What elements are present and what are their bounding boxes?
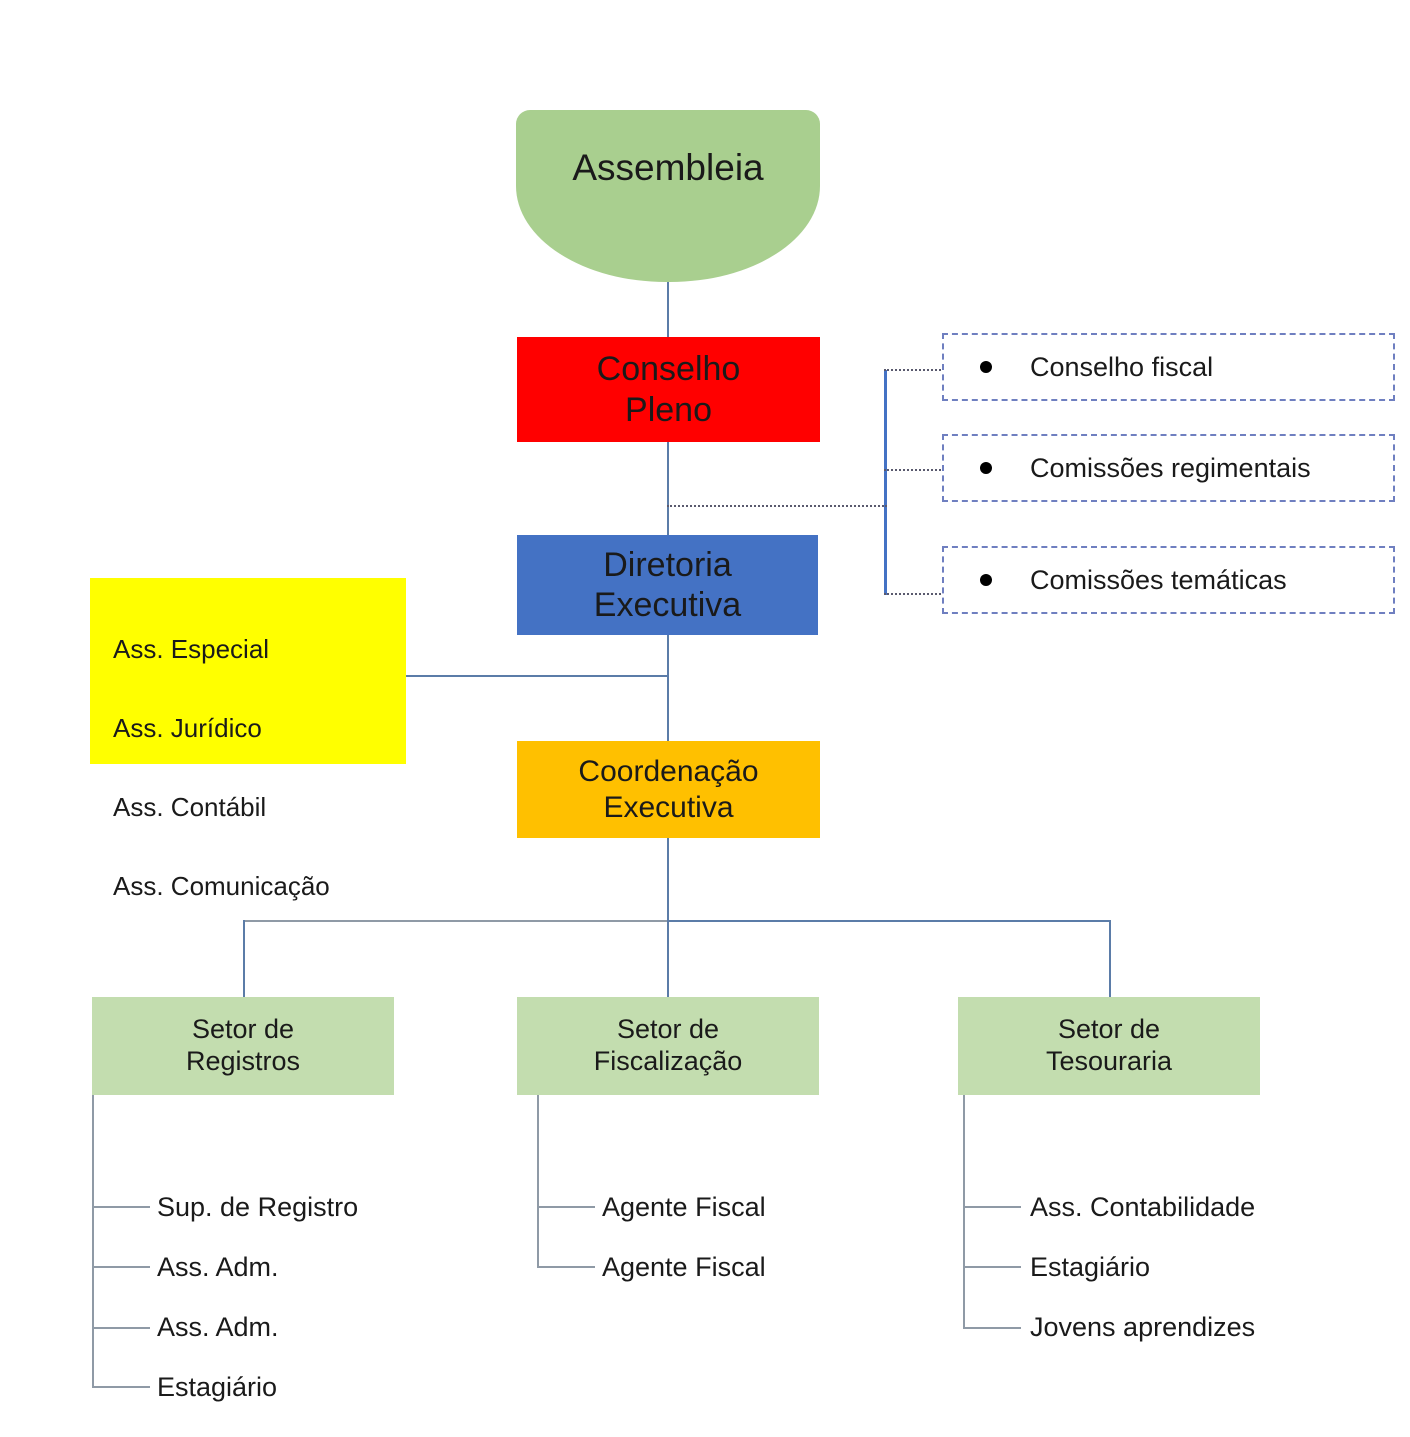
staff-fiscalizacao-0: Agente Fiscal [602, 1194, 766, 1221]
committee-label: Conselho fiscal [1030, 352, 1213, 383]
staff-tesouraria-0: Ass. Contabilidade [1030, 1194, 1255, 1221]
assessoria-item-0: Ass. Especial [113, 630, 406, 670]
connector-spine-to-conselho-fiscal [884, 369, 944, 371]
org-chart-canvas: Assembleia Conselho Pleno Diretoria Exec… [0, 0, 1410, 1437]
assessoria-item-3: Ass. Comunicação [113, 867, 406, 907]
assessoria-item-1: Ass. Jurídico [113, 709, 406, 749]
connector-distributor-to-setor-fiscalizacao [667, 920, 669, 998]
leaf-stub-registros-4 [92, 1386, 150, 1388]
bullet-dot-icon [980, 462, 992, 474]
bullet-dot-icon [980, 574, 992, 586]
leaf-stub-fiscalizacao-1 [537, 1206, 595, 1208]
staff-registros-1: Ass. Adm. [157, 1254, 279, 1281]
node-conselho-pleno[interactable]: Conselho Pleno [517, 337, 820, 442]
leaf-stub-tesouraria-1 [963, 1206, 1021, 1208]
leaf-spine-tesouraria [963, 1095, 965, 1328]
leaf-stub-tesouraria-2 [963, 1266, 1021, 1268]
node-coordenacao-executiva[interactable]: Coordenação Executiva [517, 741, 820, 838]
node-assembleia[interactable]: Assembleia [516, 110, 820, 282]
staff-tesouraria-2: Jovens aprendizes [1030, 1314, 1255, 1341]
leaf-stub-registros-2 [92, 1266, 150, 1268]
node-setor-tesouraria[interactable]: Setor de Tesouraria [958, 997, 1260, 1095]
committee-box-comissoes-regimentais[interactable]: Comissões regimentais [942, 434, 1395, 502]
connector-conselho-to-diretoria [667, 442, 669, 536]
staff-registros-0: Sup. de Registro [157, 1194, 358, 1221]
staff-registros-3: Estagiário [157, 1374, 277, 1401]
connector-spine-to-comissoes-regimentais [884, 469, 944, 471]
leaf-stub-fiscalizacao-2 [537, 1266, 595, 1268]
distributor-bar-right [667, 920, 1111, 922]
assessoria-item-2: Ass. Contábil [113, 788, 406, 828]
bullet-dot-icon [980, 361, 992, 373]
connector-spine-to-comissoes-tematicas [884, 593, 944, 595]
committee-label: Comissões regimentais [1030, 453, 1311, 484]
connector-coordenacao-to-distributor [667, 838, 669, 922]
leaf-stub-registros-3 [92, 1327, 150, 1329]
node-setor-fiscalizacao[interactable]: Setor de Fiscalização [517, 997, 819, 1095]
committee-box-comissoes-tematicas[interactable]: Comissões temáticas [942, 546, 1395, 614]
node-diretoria-executiva[interactable]: Diretoria Executiva [517, 535, 818, 635]
leaf-stub-tesouraria-3 [963, 1327, 1021, 1329]
leaf-spine-registros [92, 1095, 94, 1387]
connector-assembleia-to-conselho [667, 282, 669, 338]
staff-tesouraria-1: Estagiário [1030, 1254, 1150, 1281]
connector-committee-spine [884, 370, 887, 595]
committee-box-conselho-fiscal[interactable]: Conselho fiscal [942, 333, 1395, 401]
connector-distributor-to-setor-tesouraria [1109, 920, 1111, 998]
committee-label: Comissões temáticas [1030, 565, 1287, 596]
connector-diretoria-to-coordenacao [667, 635, 669, 742]
connector-assessorias-to-trunk [405, 675, 668, 677]
leaf-spine-fiscalizacao [537, 1095, 539, 1267]
connector-trunk-to-committee-spine [667, 505, 887, 507]
staff-registros-2: Ass. Adm. [157, 1314, 279, 1341]
node-assessorias[interactable]: Ass. Especial Ass. Jurídico Ass. Contábi… [90, 578, 406, 764]
staff-fiscalizacao-1: Agente Fiscal [602, 1254, 766, 1281]
node-setor-registros[interactable]: Setor de Registros [92, 997, 394, 1095]
leaf-stub-registros-1 [92, 1206, 150, 1208]
